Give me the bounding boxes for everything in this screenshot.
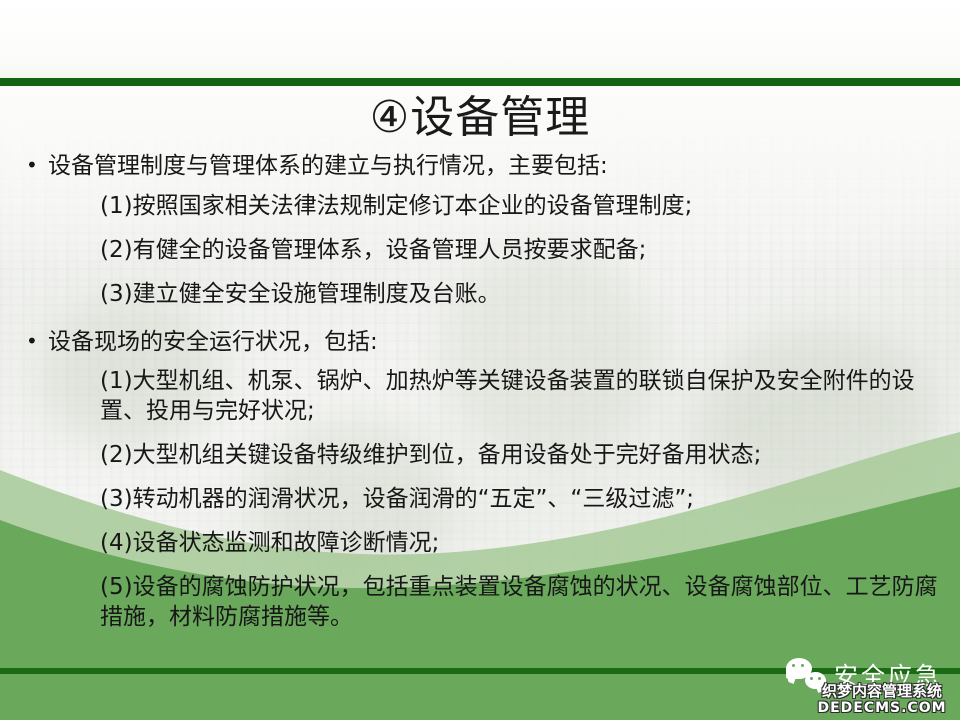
bullet-item: • 设备管理制度与管理体系的建立与执行情况，主要包括:: [26, 152, 938, 182]
bullet-text: 设备管理制度与管理体系的建立与执行情况，主要包括:: [48, 152, 938, 182]
page-title: ④设备管理: [0, 92, 960, 144]
header-band: [0, 0, 960, 78]
site-watermark: 织梦内容管理系统 DEDECMS.COM: [806, 684, 958, 715]
bullet-dot-icon: •: [26, 328, 48, 354]
sub-item: (2)有健全的设备管理体系，设备管理人员按要求配备;: [72, 236, 938, 266]
slide-body: • 设备管理制度与管理体系的建立与执行情况，主要包括: (1)按照国家相关法律法…: [26, 152, 938, 647]
sub-item: (1)大型机组、机泵、锅炉、加热炉等关键设备装置的联锁自保护及安全附件的设置、投…: [72, 367, 938, 427]
sub-item: (3)建立健全安全设施管理制度及台账。: [72, 280, 938, 310]
sub-item: (2)大型机组关键设备特级维护到位，备用设备处于完好备用状态;: [72, 441, 938, 471]
sub-item: (1)按照国家相关法律法规制定修订本企业的设备管理制度;: [72, 192, 938, 222]
sub-item: (3)转动机器的润滑状况，设备润滑的“五定”、“三级过滤”;: [72, 485, 938, 515]
bullet-text: 设备现场的安全运行状况，包括:: [48, 328, 938, 358]
watermark-domain: DEDECMS.COM: [806, 701, 958, 716]
presentation-slide: ④设备管理 • 设备管理制度与管理体系的建立与执行情况，主要包括: (1)按照国…: [0, 0, 960, 720]
bullet-item: • 设备现场的安全运行状况，包括:: [26, 328, 938, 358]
bullet-dot-icon: •: [26, 152, 48, 178]
sub-item: (5)设备的腐蚀防护状况，包括重点装置设备腐蚀的状况、设备腐蚀部位、工艺防腐措施…: [72, 573, 938, 633]
sub-item: (4)设备状态监测和故障诊断情况;: [72, 529, 938, 559]
watermark-chinese: 织梦内容管理系统: [806, 684, 958, 700]
header-green-rule: [0, 78, 960, 86]
